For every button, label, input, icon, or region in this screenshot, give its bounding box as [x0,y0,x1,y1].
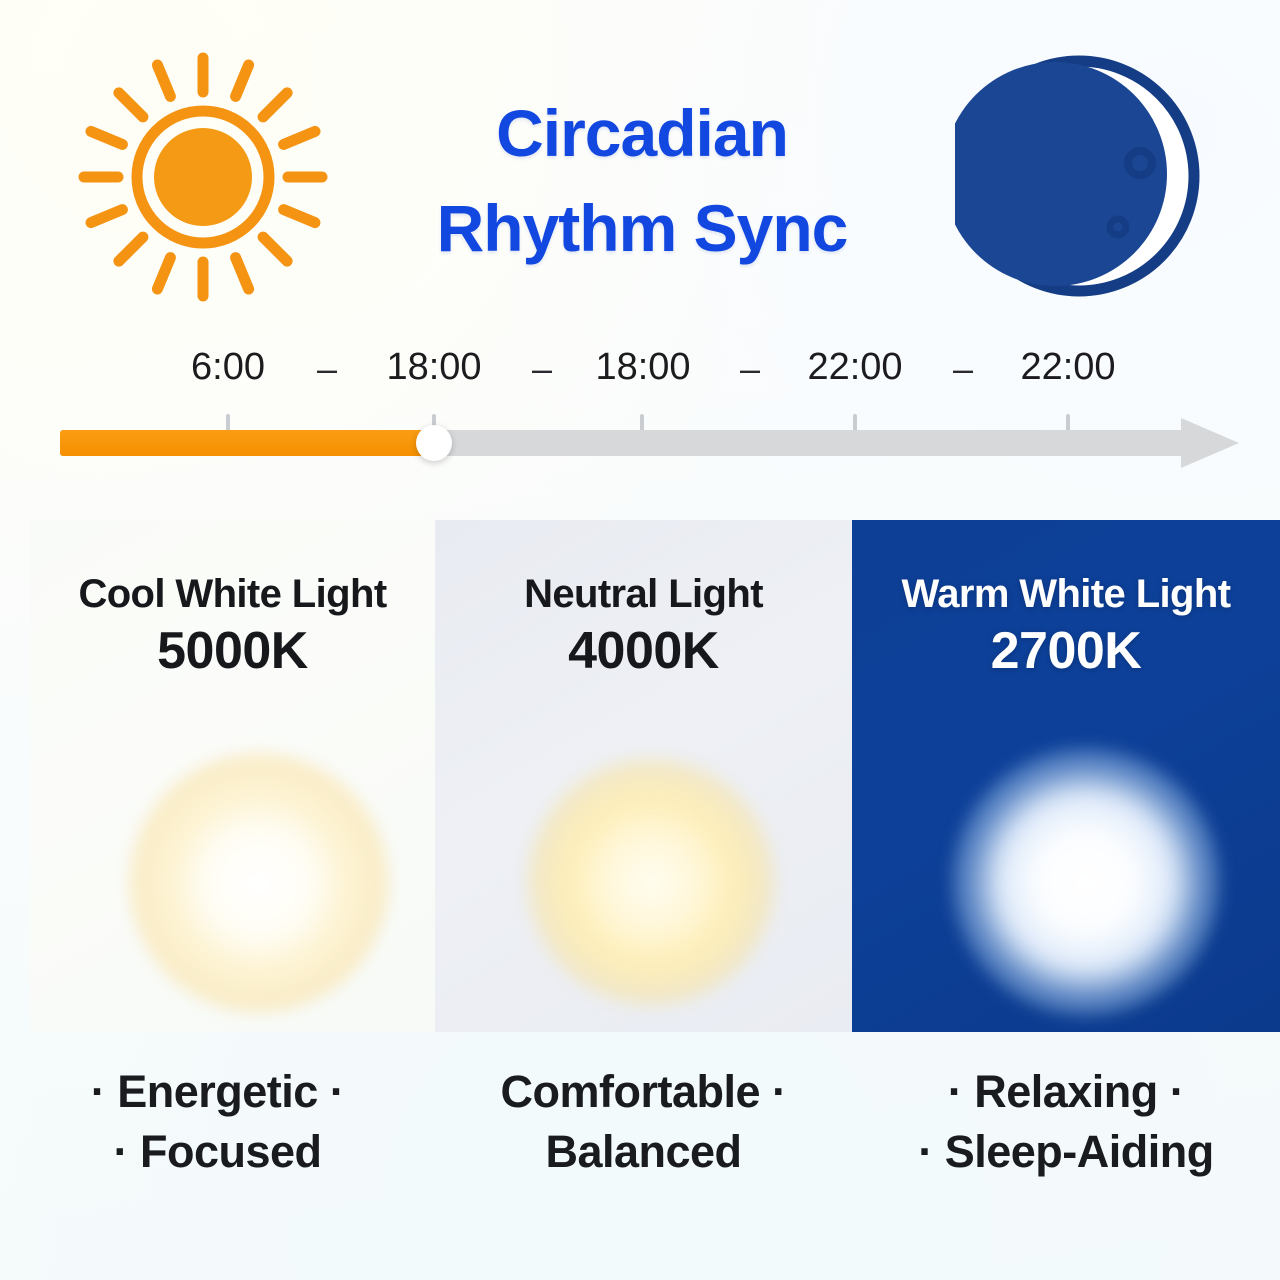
title-line-1: Circadian [352,86,932,181]
time-label-4: 22:00 [1020,346,1115,389]
attributes-section: · Energetic · · Focused Comfortable · Ba… [0,1062,1280,1252]
cool-blue-glow-icon [952,748,1220,1016]
timeline-slider[interactable] [0,408,1280,480]
panel-cool-white-name: Cool White Light [30,572,435,616]
panel-neutral-header: Neutral Light 4000K [435,572,852,686]
time-label-0: 6:00 [191,346,265,389]
light-mode-panels: Cool White Light 5000K Neutral Light 400… [0,520,1280,1032]
panel-cool-white-kelvin: 5000K [30,616,435,686]
sun-icon [78,52,328,302]
header-section: Circadian Rhythm Sync [0,0,1280,320]
time-label-1: 18:00 [386,346,481,389]
neutral-glow-icon [527,758,775,1006]
panel-warm-white-header: Warm White Light 2700K [852,572,1280,686]
timeline-section: 6:00 – 18:00 – 18:00 – 22:00 – 22:00 [0,330,1280,480]
panel-neutral-kelvin: 4000K [435,616,852,686]
time-separator-3: – [953,348,973,390]
crescent-moon-icon [955,52,1203,300]
timeline-arrow-icon [1181,418,1239,468]
time-label-3: 22:00 [807,346,902,389]
panel-cool-white-header: Cool White Light 5000K [30,572,435,686]
timeline-progress-fill [60,430,435,456]
time-separator-2: – [740,348,760,390]
panel-warm-white-name: Warm White Light [852,572,1280,616]
tag-warm-white-1: · Relaxing · [852,1062,1280,1122]
panel-warm-white[interactable]: Warm White Light 2700K [852,520,1280,1032]
tag-neutral-2: Balanced [435,1122,852,1182]
tags-cool-white: · Energetic · · Focused [0,1062,435,1252]
page-title: Circadian Rhythm Sync [352,86,932,276]
warm-white-glow-icon [128,752,390,1014]
infographic-canvas: Circadian Rhythm Sync 6:00 – 18:00 – 18:… [0,0,1280,1280]
timeline-labels: 6:00 – 18:00 – 18:00 – 22:00 – 22:00 [60,346,1240,406]
tag-cool-white-2: · Focused [0,1122,435,1182]
title-line-2: Rhythm Sync [352,181,932,276]
panel-warm-white-kelvin: 2700K [852,616,1280,686]
tag-neutral-1: Comfortable · [435,1062,852,1122]
panel-neutral-name: Neutral Light [435,572,852,616]
time-separator-0: – [317,348,337,390]
tag-warm-white-2: · Sleep-Aiding [852,1122,1280,1182]
timeline-handle[interactable] [416,425,452,461]
tags-neutral: Comfortable · Balanced [435,1062,852,1252]
tag-cool-white-1: · Energetic · [0,1062,435,1122]
panel-neutral[interactable]: Neutral Light 4000K [435,520,852,1032]
panel-cool-white[interactable]: Cool White Light 5000K [30,520,435,1032]
time-separator-1: – [532,348,552,390]
time-label-2: 18:00 [595,346,690,389]
tags-warm-white: · Relaxing · · Sleep-Aiding [852,1062,1280,1252]
